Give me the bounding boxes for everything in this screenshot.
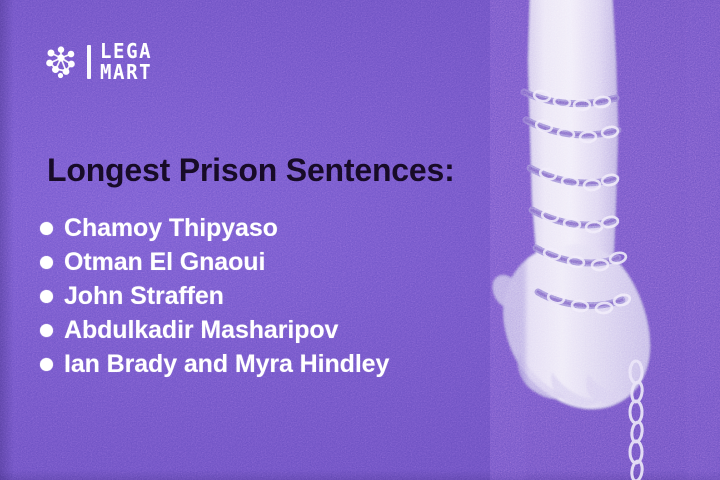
brand-logo[interactable]: LEGA MART xyxy=(44,42,152,82)
logo-divider xyxy=(87,45,91,79)
chained-fist-illustration xyxy=(490,0,720,480)
bullet-dot-icon xyxy=(40,290,53,303)
molecule-dots-icon xyxy=(44,45,78,79)
bullet-dot-icon xyxy=(40,222,53,235)
list-item-label: Abdulkadir Masharipov xyxy=(64,316,338,345)
bullet-dot-icon xyxy=(40,256,53,269)
bullet-dot-icon xyxy=(40,358,53,371)
list-item: Chamoy Thipyaso xyxy=(40,211,389,245)
list-item-label: Otman El Gnaoui xyxy=(64,248,265,277)
brand-line-2: MART xyxy=(100,63,152,84)
poster-card: LEGA MART Longest Prison Sentences: Cham… xyxy=(0,0,720,480)
prison-sentences-list: Chamoy Thipyaso Otman El Gnaoui John Str… xyxy=(40,211,389,381)
list-item: Ian Brady and Myra Hindley xyxy=(40,347,389,381)
brand-wordmark: LEGA MART xyxy=(100,42,152,82)
list-item-label: Chamoy Thipyaso xyxy=(64,214,278,243)
list-item-label: John Straffen xyxy=(64,282,224,311)
brand-line-1: LEGA xyxy=(100,42,152,63)
list-item: John Straffen xyxy=(40,279,389,313)
list-item-label: Ian Brady and Myra Hindley xyxy=(64,350,389,379)
bullet-dot-icon xyxy=(40,324,53,337)
list-item: Otman El Gnaoui xyxy=(40,245,389,279)
list-item: Abdulkadir Masharipov xyxy=(40,313,389,347)
page-title: Longest Prison Sentences: xyxy=(47,152,455,189)
